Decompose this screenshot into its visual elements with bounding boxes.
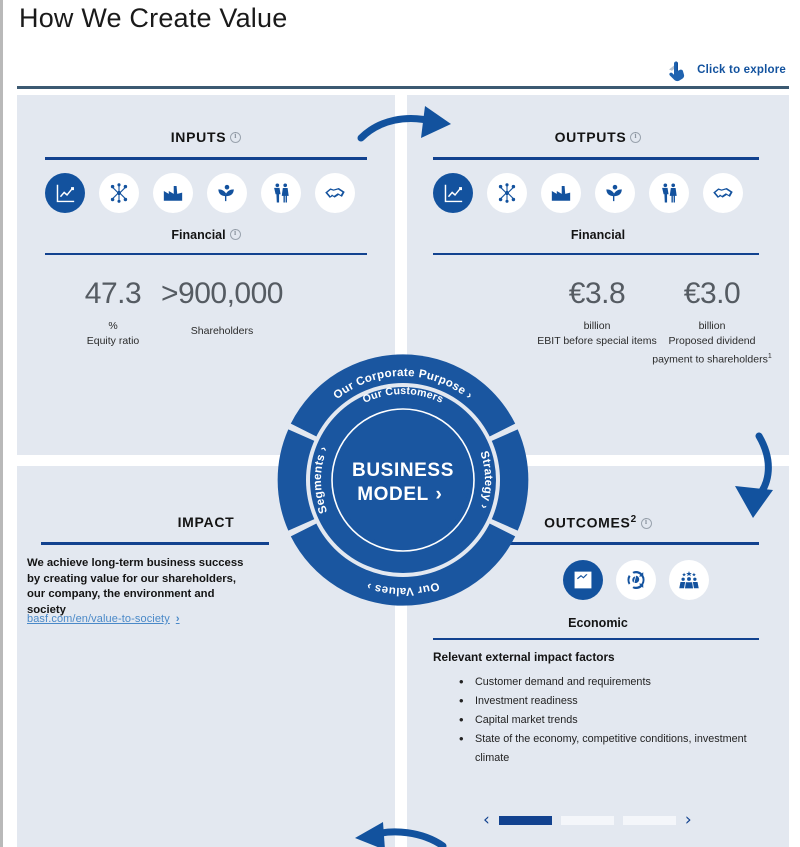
info-icon[interactable]: [230, 229, 241, 240]
list-item: State of the economy, competitive condit…: [455, 730, 773, 768]
footnote-marker: 2: [631, 514, 637, 525]
kpi-dividend: €3.0 billion Proposed dividend payment t…: [652, 277, 772, 368]
kpi-value: €3.8: [537, 277, 657, 311]
kpi-desc: Equity ratio: [63, 334, 163, 349]
outputs-category-label: Financial: [407, 228, 789, 242]
footnote-marker: 1: [768, 353, 772, 360]
outputs-rule: [433, 157, 759, 160]
list-item: Capital market trends: [455, 711, 773, 730]
people-group-icon[interactable]: [669, 560, 709, 600]
inputs-rule: [45, 157, 367, 160]
pointing-hand-icon: [663, 58, 689, 82]
kpi-ebit: €3.8 billion EBIT before special items: [537, 277, 657, 349]
kpi-unit: billion: [537, 319, 657, 334]
header-divider: [17, 86, 789, 89]
factory-icon[interactable]: [541, 173, 581, 213]
molecule-icon[interactable]: [487, 173, 527, 213]
pagination-segment[interactable]: [623, 816, 676, 825]
handshake-icon[interactable]: [315, 173, 355, 213]
business-model-line2: MODEL: [357, 484, 429, 505]
business-model-line1: BUSINESS: [352, 460, 454, 481]
business-model-chevron-icon: ›: [436, 484, 443, 505]
inputs-sub-rule: [45, 253, 367, 255]
outcomes-sub-rule: [433, 638, 759, 640]
recycle-leaf-icon[interactable]: [616, 560, 656, 600]
list-item: Investment readiness: [455, 692, 773, 711]
chevron-right-icon: ›: [176, 613, 180, 625]
value-creation-page: How We Create Value Click to explore INP…: [0, 0, 800, 847]
plant-icon[interactable]: [595, 173, 635, 213]
explore-label: Click to explore: [697, 64, 786, 76]
handshake-icon[interactable]: [703, 173, 743, 213]
pagination-segment[interactable]: [499, 816, 552, 825]
inputs-title: INPUTS: [17, 129, 395, 145]
impact-body-text: We achieve long-term business success by…: [27, 556, 255, 618]
factors-title: Relevant external impact factors: [433, 650, 615, 664]
chart-icon[interactable]: [433, 173, 473, 213]
pagination[interactable]: ‹ ›: [483, 812, 713, 829]
outputs-icon-row[interactable]: [433, 173, 743, 213]
info-icon[interactable]: [630, 132, 641, 143]
people-icon[interactable]: [649, 173, 689, 213]
plant-icon[interactable]: [207, 173, 247, 213]
bar-chart-growth-icon[interactable]: [563, 560, 603, 600]
page-title: How We Create Value: [19, 0, 287, 36]
kpi-desc: Proposed dividend payment to shareholder…: [652, 334, 772, 368]
kpi-equity-ratio: 47.3 % Equity ratio: [63, 277, 163, 349]
inputs-icon-row[interactable]: [45, 173, 355, 213]
chevron-right-icon[interactable]: ›: [685, 812, 692, 829]
click-to-explore-hint[interactable]: Click to explore: [663, 58, 786, 82]
info-icon[interactable]: [230, 132, 241, 143]
business-model-wheel[interactable]: Our Corporate Purpose › Strategy › Our V…: [253, 330, 553, 630]
kpi-value: 47.3: [63, 277, 163, 311]
kpi-unit: %: [63, 319, 163, 334]
molecule-icon[interactable]: [99, 173, 139, 213]
outputs-title: OUTPUTS: [407, 129, 789, 145]
value-to-society-link[interactable]: basf.com/en/value-to-society›: [27, 613, 180, 625]
kpi-value: €3.0: [652, 277, 772, 311]
inputs-category-label: Financial: [17, 228, 395, 242]
outcomes-icon-row[interactable]: [563, 560, 709, 600]
people-icon[interactable]: [261, 173, 301, 213]
kpi-unit: billion: [652, 319, 772, 334]
factory-icon[interactable]: [153, 173, 193, 213]
list-item: Customer demand and requirements: [455, 673, 773, 692]
chart-icon[interactable]: [45, 173, 85, 213]
kpi-value: >900,000: [157, 277, 287, 311]
chevron-left-icon[interactable]: ‹: [483, 812, 490, 829]
impact-rule: [41, 542, 269, 545]
pagination-segment[interactable]: [561, 816, 614, 825]
outputs-sub-rule: [433, 253, 759, 255]
info-icon[interactable]: [641, 518, 652, 529]
kpi-desc: EBIT before special items: [537, 334, 657, 349]
factors-list: Customer demand and requirements Investm…: [455, 673, 773, 768]
